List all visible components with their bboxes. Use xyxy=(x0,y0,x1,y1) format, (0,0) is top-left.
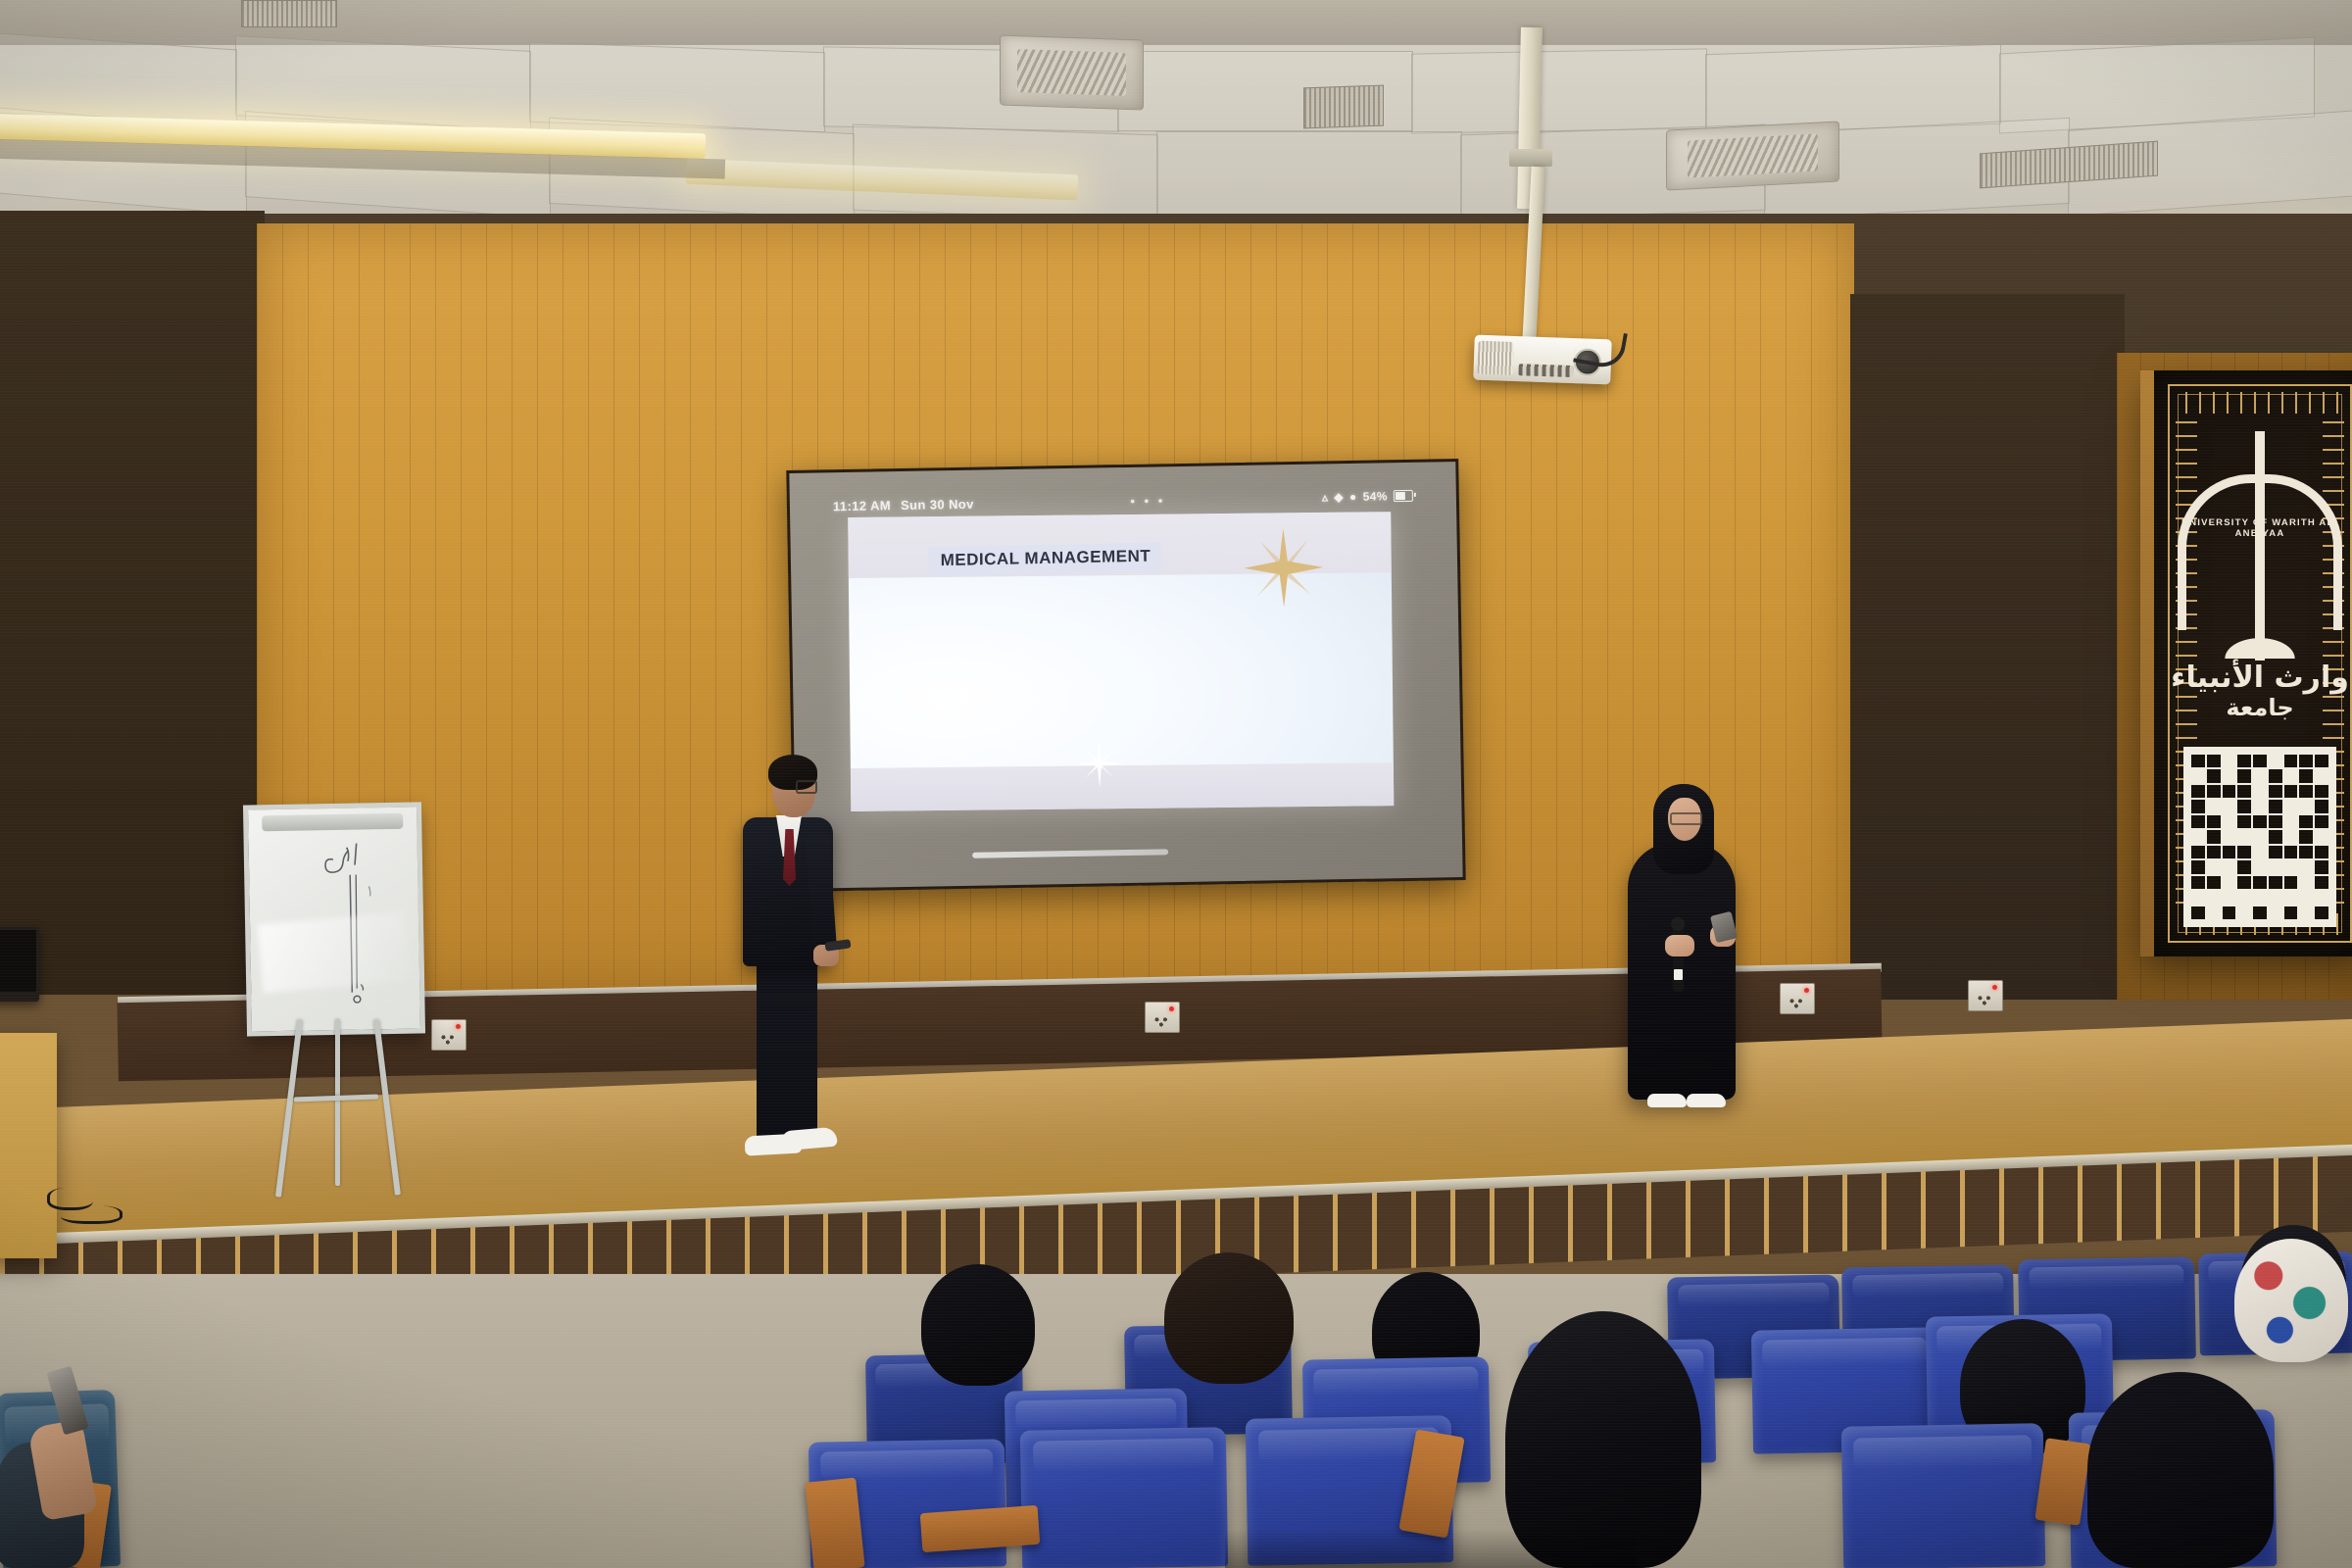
ceiling-vent-left xyxy=(241,0,337,27)
projector-vent-grill xyxy=(1477,341,1513,375)
attendee-patterned-scarf xyxy=(2234,1239,2348,1362)
slide-lower-band xyxy=(851,762,1394,811)
emblem-institution-name-en: UNIVERSITY OF WARITH AL-ANBIYAA xyxy=(2177,517,2343,539)
socket-holes xyxy=(1152,1013,1170,1027)
emblem-open-book-icon xyxy=(2186,615,2333,659)
socket-led xyxy=(1992,985,1997,990)
air-diffuser-right xyxy=(1666,121,1839,190)
socket-holes xyxy=(1788,995,1805,1008)
attendee-head-foreground-right xyxy=(2087,1372,2274,1568)
floor-cable-2 xyxy=(61,1205,122,1224)
wall-socket-3 xyxy=(1780,983,1815,1014)
emblem-arch-icon xyxy=(2178,474,2342,630)
status-center-dots: • • • xyxy=(1130,493,1165,509)
whiteboard-glare xyxy=(258,912,411,994)
wall-socket-2 xyxy=(1145,1002,1180,1033)
kufic-calligraphy-panel xyxy=(2183,747,2336,927)
male-glasses-icon xyxy=(796,780,817,794)
female-hand-left xyxy=(1665,935,1694,956)
control-desk-monitor[interactable] xyxy=(0,927,39,1002)
seat-row2-4[interactable] xyxy=(1841,1423,2046,1568)
ceiling-vent-mid xyxy=(1303,85,1384,129)
presenter-female xyxy=(1622,770,1769,1135)
socket-holes xyxy=(1976,992,1993,1005)
socket-holes xyxy=(439,1031,457,1045)
seat-row2-2[interactable] xyxy=(1020,1427,1228,1568)
control-desk xyxy=(0,1033,57,1258)
battery-percent-label: 54% xyxy=(1362,489,1387,503)
socket-led xyxy=(456,1024,461,1029)
armrest-center xyxy=(920,1505,1040,1552)
status-clock: 11:12 AM Sun 30 Nov xyxy=(833,496,974,514)
university-emblem-plaque: UNIVERSITY OF WARITH AL-ANBIYAA وارث الأ… xyxy=(2140,370,2352,956)
projector-ports xyxy=(1518,364,1573,377)
bluetooth-icon: ◆ xyxy=(1334,490,1344,504)
battery-icon xyxy=(1394,490,1413,502)
attendee-head-2 xyxy=(1164,1252,1294,1384)
wall-dark-right xyxy=(1850,294,2125,1000)
lecture-hall-scene: 11:12 AM Sun 30 Nov • • • ▵ ◆ ● 54% xyxy=(0,0,2352,1568)
presentation-slide: MEDICAL MANAGEMENT xyxy=(848,512,1394,811)
male-trousers xyxy=(757,939,817,1143)
female-glasses-icon xyxy=(1670,812,1702,825)
wall-socket-1 xyxy=(431,1019,466,1051)
socket-led xyxy=(1804,988,1809,993)
attendee-head-1 xyxy=(921,1264,1035,1386)
female-shoe-left xyxy=(1647,1094,1687,1107)
alarm-icon: ● xyxy=(1349,490,1357,504)
microphone-head xyxy=(1671,917,1685,931)
projector-pole-bracket xyxy=(1509,149,1552,167)
status-date: Sun 30 Nov xyxy=(901,496,974,512)
screen-bottom-strip xyxy=(972,849,1168,857)
male-shoe-right xyxy=(781,1127,838,1151)
socket-led xyxy=(1169,1006,1174,1011)
slide-title: MEDICAL MANAGEMENT xyxy=(929,542,1161,576)
ceiling xyxy=(0,0,2352,227)
wall-dark-left xyxy=(0,211,265,995)
status-indicators: ▵ ◆ ● 54% xyxy=(1322,489,1413,505)
plaque-pattern-top xyxy=(2180,392,2340,414)
wifi-icon: ▵ xyxy=(1322,490,1329,504)
monitor-screen xyxy=(0,930,36,992)
armrest-mid-near xyxy=(805,1478,864,1568)
air-diffuser-left xyxy=(1000,34,1144,110)
wall-socket-4 xyxy=(1968,980,2003,1011)
female-shoe-right xyxy=(1687,1094,1726,1107)
male-necktie xyxy=(783,829,796,886)
foreground-seat-shadow xyxy=(1225,1529,1637,1568)
ceiling-tile-grid xyxy=(0,0,2352,227)
flipchart-leg-center xyxy=(335,1019,340,1186)
flipchart-clip xyxy=(262,813,404,832)
presenter-male xyxy=(727,733,894,1194)
status-time: 11:12 AM xyxy=(833,498,891,514)
microphone-band xyxy=(1674,969,1683,980)
emblem-institution-name-ar: وارث الأنبياء xyxy=(2154,661,2352,695)
emblem-subtitle-ar: جامعة xyxy=(2154,694,2352,721)
flipchart-whiteboard[interactable] xyxy=(243,802,425,1036)
